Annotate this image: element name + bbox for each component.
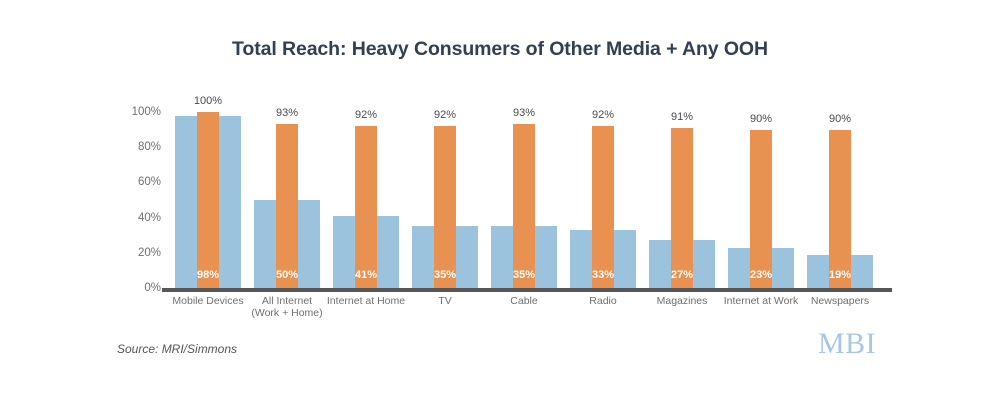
bar-value-label-top: 93% bbox=[252, 107, 322, 119]
bar-blue-right[interactable] bbox=[772, 248, 794, 288]
bar-value-label-top: 92% bbox=[568, 109, 638, 121]
bar-orange[interactable] bbox=[750, 130, 772, 288]
bar-blue-right[interactable] bbox=[219, 116, 241, 288]
bar-orange[interactable] bbox=[355, 126, 377, 288]
bar-orange[interactable] bbox=[829, 130, 851, 288]
bar-group bbox=[728, 112, 794, 288]
bar-orange[interactable] bbox=[197, 112, 219, 288]
y-axis-tick-label: 60% bbox=[109, 176, 161, 188]
bar-value-label-inner: 33% bbox=[568, 269, 638, 281]
bar-value-label-top: 93% bbox=[489, 107, 559, 119]
bar-value-label-inner: 35% bbox=[410, 269, 480, 281]
bar-value-label-top: 90% bbox=[805, 113, 875, 125]
chart-title: Total Reach: Heavy Consumers of Other Me… bbox=[0, 38, 1000, 61]
bar-value-label-inner: 98% bbox=[173, 269, 243, 281]
bar-group bbox=[412, 112, 478, 288]
y-axis-tick-label: 80% bbox=[109, 141, 161, 153]
bar-value-label-top: 92% bbox=[331, 109, 401, 121]
bar-orange[interactable] bbox=[592, 126, 614, 288]
bar-orange[interactable] bbox=[671, 128, 693, 288]
bar-value-label-inner: 50% bbox=[252, 269, 322, 281]
y-axis-tick-label: 20% bbox=[109, 247, 161, 259]
bar-value-label-top: 91% bbox=[647, 111, 717, 123]
bar-value-label-top: 90% bbox=[726, 113, 796, 125]
bar-value-label-top: 100% bbox=[173, 95, 243, 107]
bar-blue-left[interactable] bbox=[728, 248, 750, 288]
bar-group bbox=[175, 112, 241, 288]
bar-group bbox=[570, 112, 636, 288]
source-note: Source: MRI/Simmons bbox=[117, 342, 237, 356]
bar-orange[interactable] bbox=[276, 124, 298, 288]
bar-value-label-top: 92% bbox=[410, 109, 480, 121]
y-axis-tick-label: 40% bbox=[109, 212, 161, 224]
bar-value-label-inner: 27% bbox=[647, 269, 717, 281]
bar-orange[interactable] bbox=[513, 124, 535, 288]
x-axis-category-label: Newspapers bbox=[775, 296, 905, 308]
x-axis-baseline bbox=[162, 288, 892, 292]
bar-group bbox=[254, 112, 320, 288]
bar-blue-left[interactable] bbox=[175, 116, 197, 288]
mbi-logo: MBI bbox=[818, 327, 876, 361]
bar-value-label-inner: 19% bbox=[805, 269, 875, 281]
bar-group bbox=[649, 112, 715, 288]
bar-orange[interactable] bbox=[434, 126, 456, 288]
bar-value-label-inner: 35% bbox=[489, 269, 559, 281]
bar-value-label-inner: 41% bbox=[331, 269, 401, 281]
bar-value-label-inner: 23% bbox=[726, 269, 796, 281]
bar-group bbox=[333, 112, 399, 288]
bar-group bbox=[491, 112, 557, 288]
chart-canvas: Total Reach: Heavy Consumers of Other Me… bbox=[0, 0, 1000, 400]
y-axis-tick-label: 100% bbox=[109, 106, 161, 118]
bar-group bbox=[807, 112, 873, 288]
y-axis-tick-label: 0% bbox=[109, 282, 161, 294]
